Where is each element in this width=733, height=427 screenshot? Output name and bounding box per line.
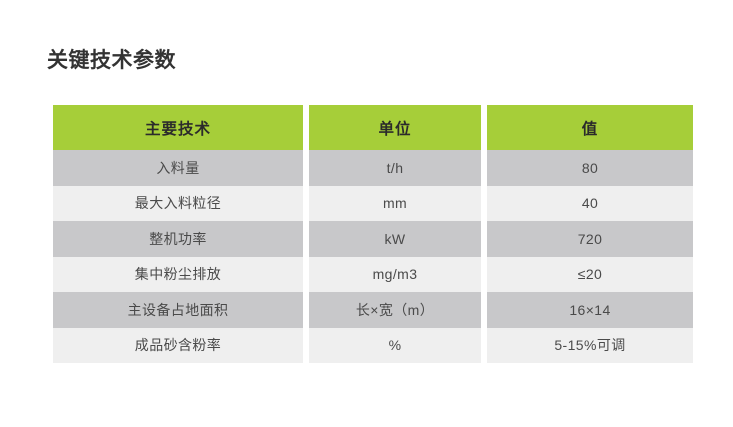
- page-root: 关键技术参数 主要技术 单位 值 入料量 t/h 80 最大入料粒径 mm 40: [0, 0, 733, 427]
- table-body: 入料量 t/h 80 最大入料粒径 mm 40 整机功率 kW 720 集中粉尘…: [53, 150, 693, 363]
- cell-value: 40: [487, 186, 693, 222]
- table-row: 最大入料粒径 mm 40: [53, 186, 693, 222]
- cell-unit: t/h: [309, 150, 481, 186]
- table-row: 成品砂含粉率 % 5-15%可调: [53, 328, 693, 364]
- cell-tech: 最大入料粒径: [53, 186, 303, 222]
- cell-unit: 长×宽（m）: [309, 292, 481, 328]
- table-header: 主要技术 单位 值: [53, 105, 693, 150]
- cell-value: 720: [487, 221, 693, 257]
- cell-tech: 主设备占地面积: [53, 292, 303, 328]
- cell-unit: mm: [309, 186, 481, 222]
- table-header-row: 主要技术 单位 值: [53, 105, 693, 150]
- cell-tech: 成品砂含粉率: [53, 328, 303, 364]
- table-row: 主设备占地面积 长×宽（m） 16×14: [53, 292, 693, 328]
- table-row: 集中粉尘排放 mg/m3 ≤20: [53, 257, 693, 293]
- cell-unit: kW: [309, 221, 481, 257]
- table-row: 整机功率 kW 720: [53, 221, 693, 257]
- cell-tech: 整机功率: [53, 221, 303, 257]
- column-header-unit: 单位: [309, 105, 481, 150]
- cell-value: ≤20: [487, 257, 693, 293]
- cell-unit: mg/m3: [309, 257, 481, 293]
- cell-value: 80: [487, 150, 693, 186]
- table-row: 入料量 t/h 80: [53, 150, 693, 186]
- cell-value: 16×14: [487, 292, 693, 328]
- column-header-value: 值: [487, 105, 693, 150]
- key-technical-parameters-table: 主要技术 单位 值 入料量 t/h 80 最大入料粒径 mm 40 整机功率 k…: [47, 105, 699, 363]
- column-header-tech: 主要技术: [53, 105, 303, 150]
- cell-tech: 集中粉尘排放: [53, 257, 303, 293]
- cell-value: 5-15%可调: [487, 328, 693, 364]
- cell-tech: 入料量: [53, 150, 303, 186]
- page-title: 关键技术参数: [47, 46, 176, 76]
- cell-unit: %: [309, 328, 481, 364]
